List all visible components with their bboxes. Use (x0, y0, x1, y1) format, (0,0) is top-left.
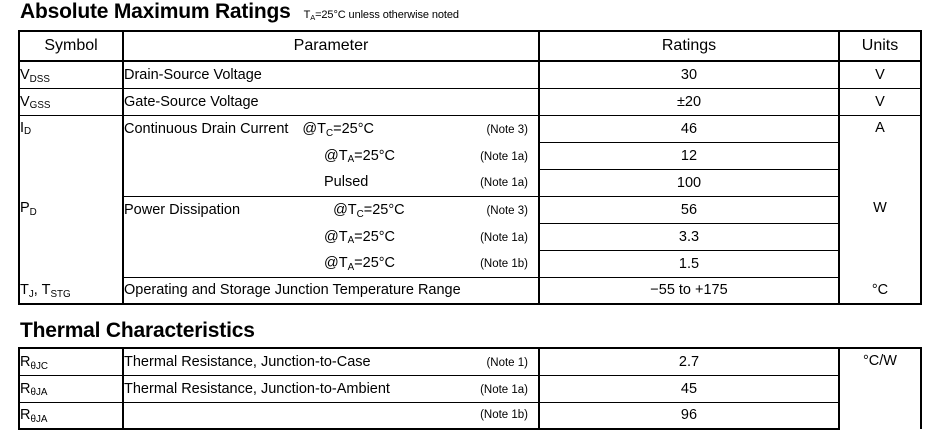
row-parameter-pd-ta-1a: @TA=25°C (Note 1a) (123, 223, 539, 250)
parameter-condition: @TC=25°C (333, 202, 405, 218)
row-symbol-rthja-1a: RθJA (19, 375, 123, 402)
condition-subscript: A (348, 262, 355, 273)
row-rating-vgss: ±20 (539, 88, 839, 115)
table-row: RθJC Thermal Resistance, Junction-to-Cas… (19, 348, 921, 375)
condition-rest: =25°C (354, 148, 395, 164)
subtitle-rest: =25°C unless otherwise noted (315, 9, 459, 21)
row-rating-rthja-1b: 96 (539, 402, 839, 429)
table-row: @TA=25°C (Note 1a) 3.3 (19, 223, 921, 250)
symbol-subscript: θJC (30, 361, 48, 372)
row-rating-id-ta: 12 (539, 142, 839, 169)
table-header-row: Symbol Parameter Ratings Units (19, 31, 921, 61)
column-header-ratings: Ratings (539, 31, 839, 61)
symbol-main-2: , T (34, 282, 51, 298)
table-row: RθJA (Note 1b) 96 (19, 402, 921, 429)
column-header-units: Units (839, 31, 921, 61)
condition-rest: =25°C (333, 121, 374, 137)
row-parameter-id-ta: @TA=25°C (Note 1a) (123, 142, 539, 169)
row-symbol-vdss: VDSS (19, 61, 123, 88)
parameter-note: (Note 3) (486, 205, 538, 217)
condition-subscript: A (348, 154, 355, 165)
row-rating-rthja-1a: 45 (539, 375, 839, 402)
table-row: ID Continuous Drain Current @TC=25°C (No… (19, 115, 921, 142)
row-parameter-rthja-1b: (Note 1b) (123, 402, 539, 429)
thermal-characteristics-table: RθJC Thermal Resistance, Junction-to-Cas… (18, 347, 922, 430)
symbol-subscript: θJA (30, 387, 47, 398)
symbol-subscript: DSS (30, 74, 50, 85)
parameter-note: (Note 1b) (480, 409, 538, 421)
row-units-vdss: V (839, 61, 921, 88)
section-title-thermal: Thermal Characteristics (20, 319, 255, 343)
row-parameter-id-pulsed: Pulsed (Note 1a) (123, 169, 539, 196)
parameter-name: Operating and Storage Junction Temperatu… (124, 282, 461, 298)
row-rating-vdss: 30 (539, 61, 839, 88)
condition-rest: =25°C (354, 229, 395, 245)
symbol-subscript-2: STG (50, 289, 70, 300)
condition-rest: =25°C (354, 255, 395, 271)
condition-subscript: C (357, 209, 364, 220)
row-parameter-pd-ta-1b: @TA=25°C (Note 1b) (123, 250, 539, 277)
row-symbol-rthja-1b: RθJA (19, 402, 123, 429)
absolute-maximum-ratings-heading: Absolute Maximum Ratings TA=25°C unless … (20, 0, 459, 24)
parameter-condition: @TA=25°C (324, 229, 395, 245)
parameter-name: Continuous Drain Current (124, 121, 288, 137)
parameter-condition: Pulsed (324, 174, 368, 190)
row-units-vgss: V (839, 88, 921, 115)
condition-main: @T (302, 121, 326, 137)
absolute-maximum-ratings-table: Symbol Parameter Ratings Units VDSS Drai… (18, 30, 922, 305)
row-rating-id-pulsed: 100 (539, 169, 839, 196)
parameter-note: (Note 1a) (480, 177, 538, 189)
symbol-main: R (20, 407, 30, 423)
parameter-note: (Note 1a) (480, 232, 538, 244)
symbol-subscript: θJA (30, 414, 47, 425)
thermal-characteristics-heading: Thermal Characteristics (20, 319, 255, 343)
row-units-thermal: °C/W (839, 348, 921, 429)
parameter-note: (Note 3) (486, 124, 538, 136)
symbol-main: V (20, 94, 30, 110)
row-rating-id-tc: 46 (539, 115, 839, 142)
condition-subscript: C (326, 128, 333, 139)
condition-rest: =25°C (364, 202, 405, 218)
symbol-main: R (20, 354, 30, 370)
row-parameter-rthja-1a: Thermal Resistance, Junction-to-Ambient … (123, 375, 539, 402)
condition-main: @T (324, 148, 348, 164)
row-rating-pd-ta-1a: 3.3 (539, 223, 839, 250)
symbol-main: T (20, 282, 29, 298)
page-title: Absolute Maximum Ratings (20, 0, 291, 24)
table-row: @TA=25°C (Note 1a) 12 (19, 142, 921, 169)
symbol-subscript: D (30, 207, 37, 218)
parameter-name: Drain-Source Voltage (124, 67, 262, 83)
parameter-note: (Note 1) (486, 357, 538, 369)
row-symbol-vgss: VGSS (19, 88, 123, 115)
table-row: RθJA Thermal Resistance, Junction-to-Amb… (19, 375, 921, 402)
parameter-name: Thermal Resistance, Junction-to-Ambient (124, 381, 390, 397)
datasheet-page: Absolute Maximum Ratings TA=25°C unless … (0, 0, 931, 436)
symbol-subscript: J (29, 289, 34, 300)
symbol-main: P (20, 200, 30, 216)
row-parameter-rthjc: Thermal Resistance, Junction-to-Case (No… (123, 348, 539, 375)
table-row: Pulsed (Note 1a) 100 (19, 169, 921, 196)
row-units-pd: W (839, 196, 921, 277)
parameter-name: Power Dissipation (124, 202, 240, 218)
row-symbol-pd: PD (19, 196, 123, 277)
parameter-note: (Note 1b) (480, 258, 538, 270)
condition-main: @T (324, 229, 348, 245)
subtitle-subscript: A (310, 13, 315, 22)
condition-main: @T (324, 255, 348, 271)
absolute-maximum-ratings-subtitle: TA=25°C unless otherwise noted (304, 9, 459, 21)
row-parameter-tj-tstg: Operating and Storage Junction Temperatu… (123, 277, 539, 304)
symbol-main: R (20, 381, 30, 397)
symbol-main: V (20, 67, 30, 83)
row-rating-pd-tc: 56 (539, 196, 839, 223)
condition-main: Pulsed (324, 174, 368, 190)
row-parameter-pd: Power Dissipation @TC=25°C (Note 3) (123, 196, 539, 223)
table-row: PD Power Dissipation @TC=25°C (Note 3) 5… (19, 196, 921, 223)
parameter-note: (Note 1a) (480, 384, 538, 396)
parameter-name: Thermal Resistance, Junction-to-Case (124, 354, 371, 370)
row-rating-pd-ta-1b: 1.5 (539, 250, 839, 277)
table-row: VDSS Drain-Source Voltage 30 V (19, 61, 921, 88)
table-row: @TA=25°C (Note 1b) 1.5 (19, 250, 921, 277)
row-units-id: A (839, 115, 921, 196)
parameter-name: Gate-Source Voltage (124, 94, 259, 110)
parameter-note: (Note 1a) (480, 151, 538, 163)
table-row: TJ, TSTG Operating and Storage Junction … (19, 277, 921, 304)
condition-main: @T (333, 202, 357, 218)
table-row: VGSS Gate-Source Voltage ±20 V (19, 88, 921, 115)
parameter-condition: @TA=25°C (324, 255, 395, 271)
parameter-condition: @TA=25°C (324, 148, 395, 164)
row-symbol-rthjc: RθJC (19, 348, 123, 375)
condition-subscript: A (348, 235, 355, 246)
row-symbol-tj-tstg: TJ, TSTG (19, 277, 123, 304)
row-parameter-vdss: Drain-Source Voltage (123, 61, 539, 88)
row-parameter-vgss: Gate-Source Voltage (123, 88, 539, 115)
row-parameter-id: Continuous Drain Current @TC=25°C (Note … (123, 115, 539, 142)
parameter-condition: @TC=25°C (302, 121, 374, 137)
symbol-subscript: D (24, 126, 31, 137)
row-rating-tj-tstg: −55 to +175 (539, 277, 839, 304)
column-header-symbol: Symbol (19, 31, 123, 61)
row-rating-rthjc: 2.7 (539, 348, 839, 375)
row-units-tj-tstg: °C (839, 277, 921, 304)
column-header-parameter: Parameter (123, 31, 539, 61)
row-symbol-id: ID (19, 115, 123, 196)
symbol-subscript: GSS (30, 100, 51, 111)
